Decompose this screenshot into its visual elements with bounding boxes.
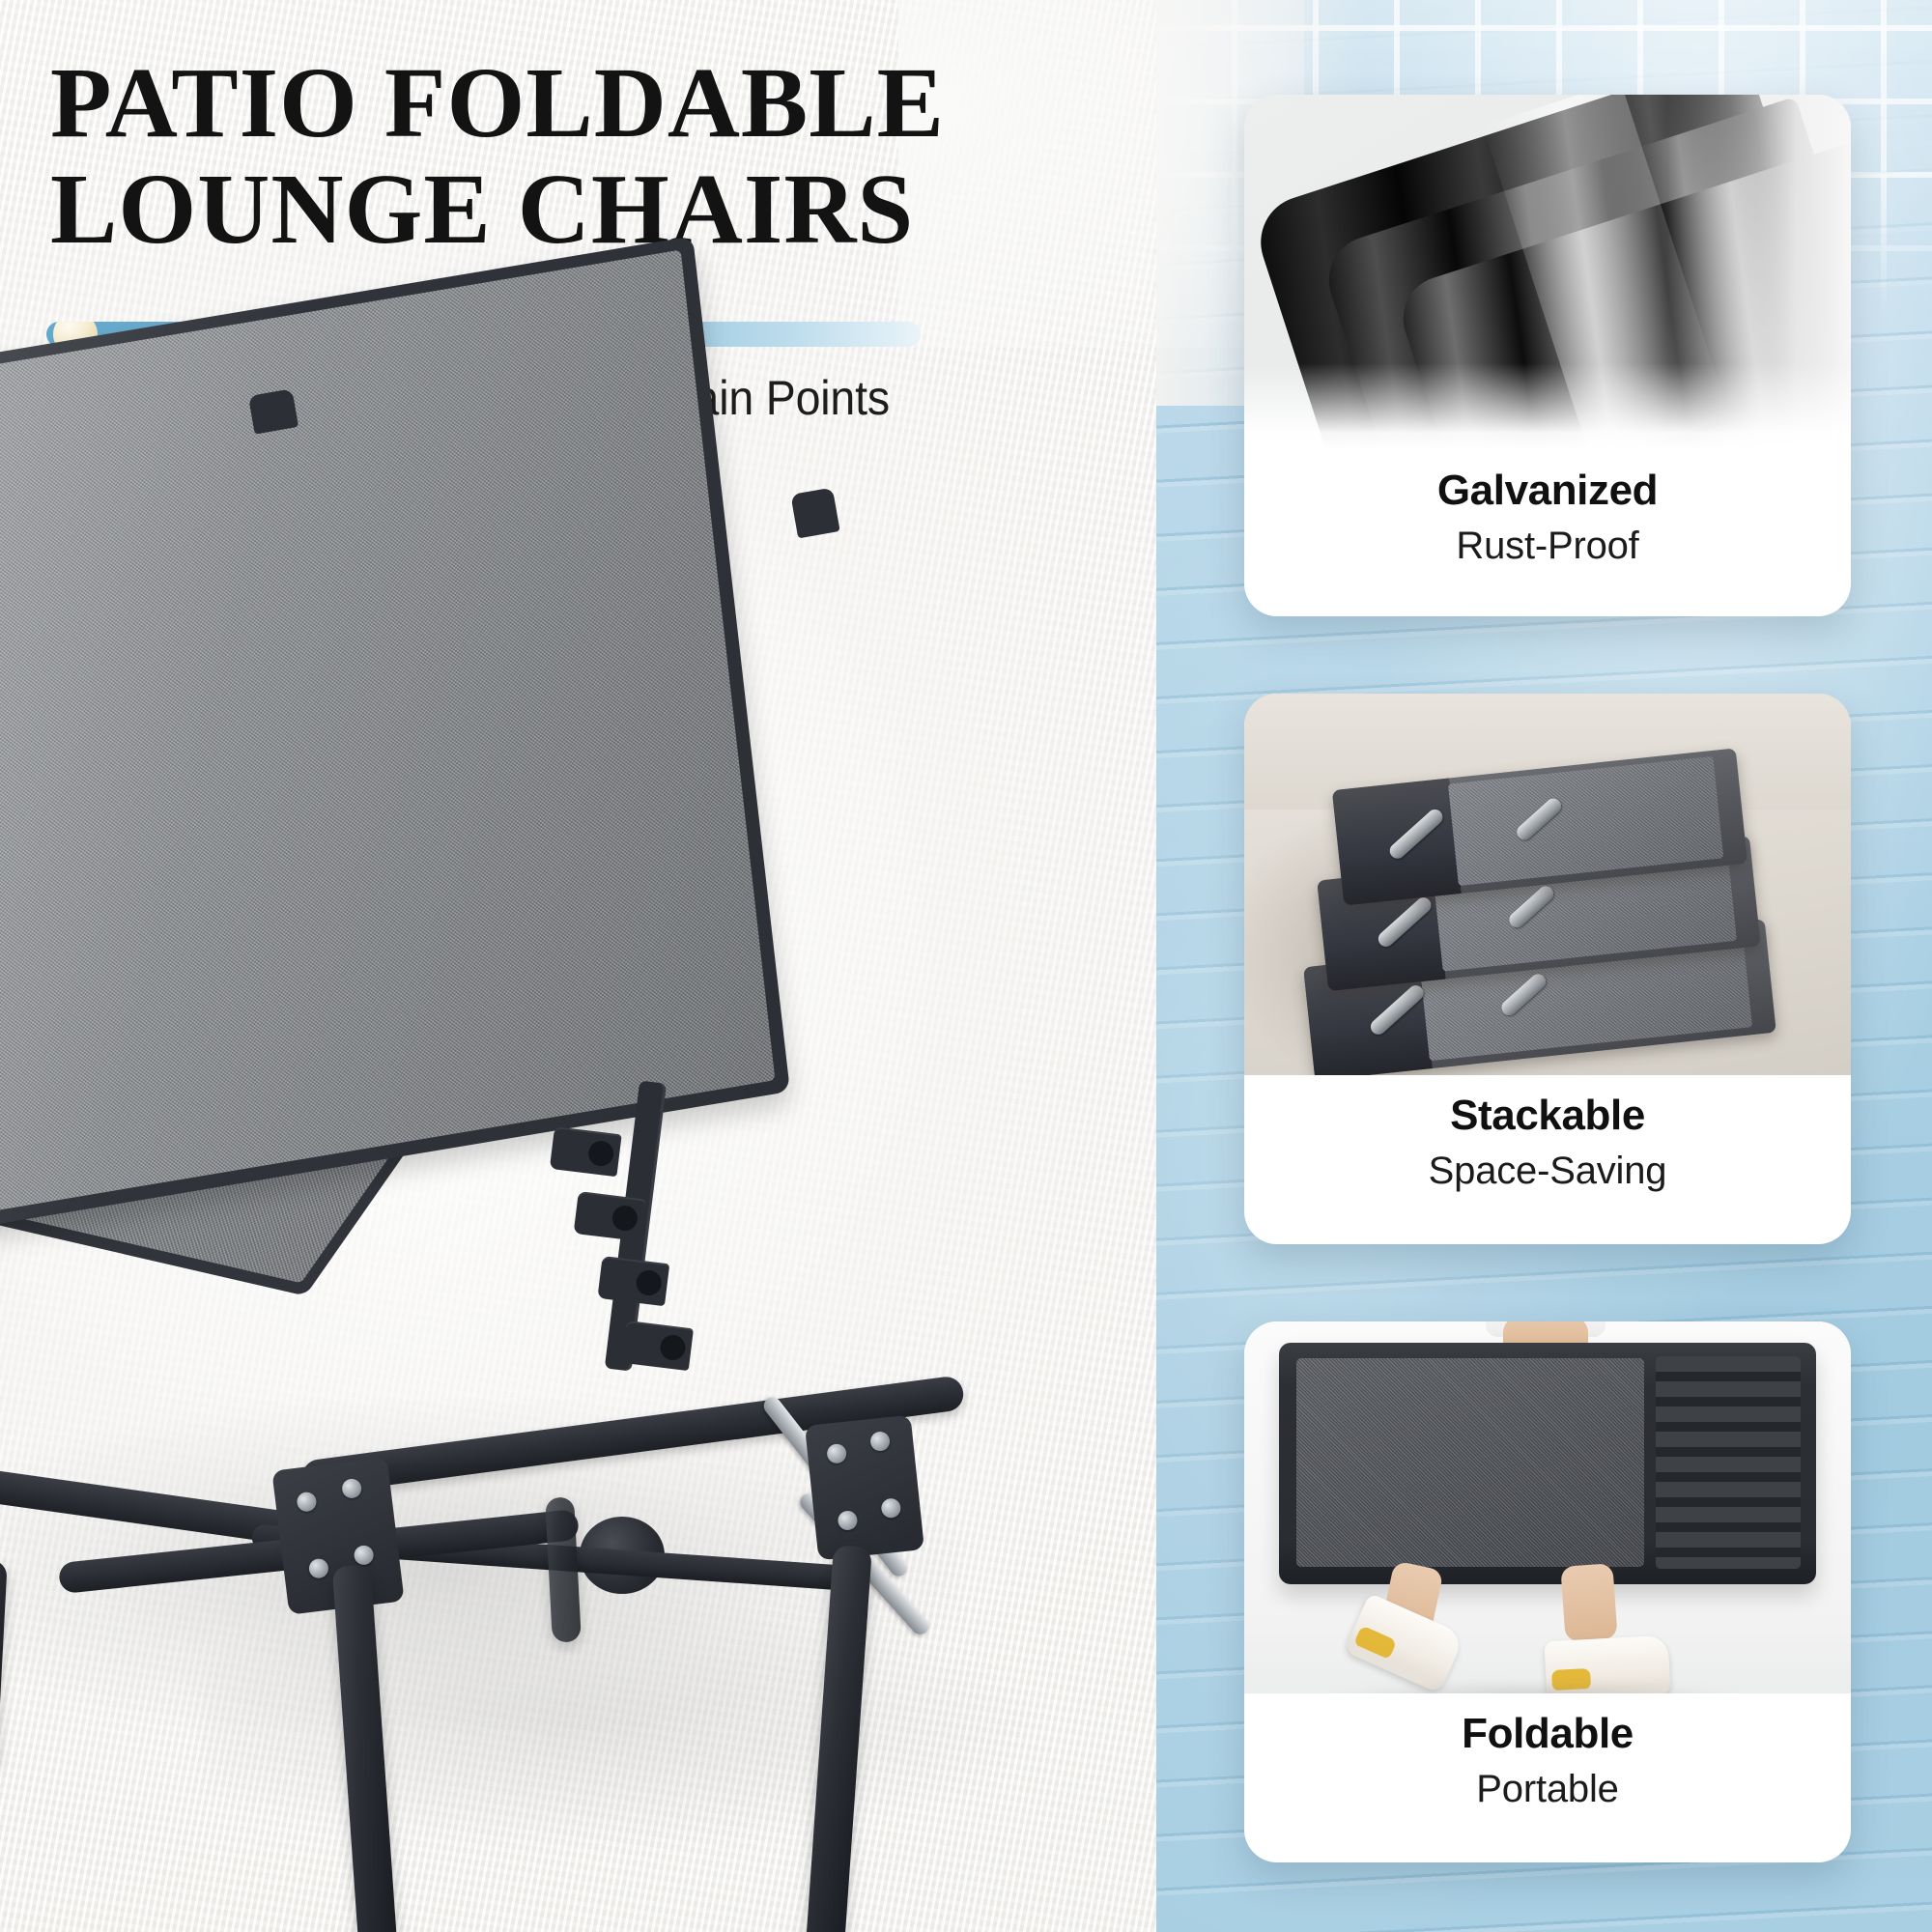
title-line-2: LOUNGE CHAIRS (50, 156, 1142, 263)
feature-card-title: Galvanized (1244, 466, 1851, 516)
backrest-ratchet-bracket (532, 1081, 727, 1373)
backrest-cap-top-right (790, 488, 839, 539)
feature-card-stackable-image (1244, 694, 1851, 1075)
rivet-icon (353, 1545, 374, 1566)
feature-card-foldable-text: Foldable Portable (1244, 1693, 1851, 1813)
feature-card-subtitle: Rust-Proof (1244, 522, 1851, 570)
page-title: PATIO FOLDABLE LOUNGE CHAIRS (50, 50, 1142, 263)
product-marketing-banner: PATIO FOLDABLE LOUNGE CHAIRS Humanized D… (0, 0, 1932, 1932)
folded-chair-mesh-panel (1448, 756, 1724, 886)
feature-card-stackable[interactable]: Stackable Space-Saving (1244, 694, 1851, 1244)
feature-card-title: Stackable (1244, 1091, 1851, 1141)
backrest-cap-top-left (248, 388, 298, 434)
feature-card-foldable-image (1244, 1321, 1851, 1693)
folded-chair-carried (1279, 1343, 1816, 1584)
feature-card-title: Foldable (1244, 1709, 1851, 1759)
rivet-icon (296, 1492, 317, 1513)
rivet-icon (341, 1478, 362, 1499)
person-leg-right (1560, 1563, 1617, 1642)
ratchet-notch-1 (550, 1126, 622, 1177)
feature-card-galvanized[interactable]: Galvanized Rust-Proof (1244, 95, 1851, 616)
ratchet-notch-2 (574, 1191, 646, 1241)
feature-card-subtitle: Space-Saving (1244, 1147, 1851, 1195)
ratchet-notch-3 (597, 1256, 669, 1306)
hero-product-image (0, 415, 1169, 1932)
rivet-icon (308, 1558, 329, 1579)
rivet-icon (869, 1431, 891, 1452)
rivet-icon (837, 1510, 858, 1531)
hero-floor-shadow-secondary (203, 1604, 1034, 1845)
folded-chair-mesh-panel (1296, 1358, 1644, 1567)
rivet-icon (826, 1443, 847, 1464)
galvanized-fade-bottom (1244, 363, 1851, 450)
feature-card-galvanized-text: Galvanized Rust-Proof (1244, 450, 1851, 570)
foldable-floor-shadow (1331, 1681, 1737, 1693)
feature-card-galvanized-image (1244, 95, 1851, 450)
feature-card-subtitle: Portable (1244, 1765, 1851, 1813)
feature-card-stackable-text: Stackable Space-Saving (1244, 1075, 1851, 1195)
ratchet-notch-4 (621, 1321, 694, 1371)
hinge-plate-rear (805, 1415, 924, 1561)
feature-card-foldable[interactable]: Foldable Portable (1244, 1321, 1851, 1862)
rivet-icon (880, 1497, 901, 1519)
title-line-1: PATIO FOLDABLE (50, 47, 945, 158)
folded-chair-slats (1656, 1356, 1801, 1569)
